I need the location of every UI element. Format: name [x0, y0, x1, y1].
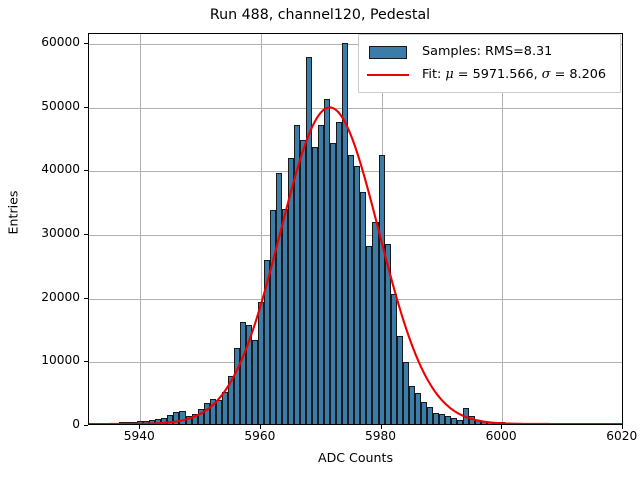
x-tick-label: 5980 [346, 429, 416, 443]
legend-fit-prefix: Fit: [422, 67, 445, 82]
mu-symbol: μ [445, 67, 453, 82]
x-axis-label: ADC Counts [88, 450, 623, 465]
x-tick-label: 6020 [587, 429, 640, 443]
figure-canvas: Run 488, channel120, Pedestal 5940596059… [0, 0, 640, 480]
legend-patch-icon [365, 43, 411, 61]
y-tick-mark [84, 425, 88, 426]
y-tick-label: 10000 [6, 353, 80, 367]
x-tick-label: 5960 [225, 429, 295, 443]
y-tick-label: 60000 [6, 35, 80, 49]
legend-item-samples: Samples: RMS=8.31 [365, 40, 614, 63]
legend-label-samples: Samples: RMS=8.31 [422, 44, 552, 59]
y-tick-mark [84, 298, 88, 299]
legend-item-fit: Fit: μ = 5971.566, σ = 8.206 [365, 63, 614, 86]
y-tick-label: 0 [6, 417, 80, 431]
sigma-symbol: σ [542, 67, 551, 82]
x-tick-label: 6000 [466, 429, 536, 443]
page-title: Run 488, channel120, Pedestal [0, 7, 640, 23]
legend-label-fit: Fit: μ = 5971.566, σ = 8.206 [422, 67, 606, 82]
legend-line-icon [365, 66, 411, 84]
y-axis-label: Entries [6, 123, 21, 303]
legend-fit-sigma-value: = 8.206 [551, 67, 607, 82]
x-tick-label: 5940 [104, 429, 174, 443]
y-tick-mark [84, 170, 88, 171]
y-tick-mark [84, 107, 88, 108]
y-tick-label: 50000 [6, 99, 80, 113]
y-tick-mark [84, 361, 88, 362]
legend: Samples: RMS=8.31 Fit: μ = 5971.566, σ =… [358, 34, 621, 93]
y-tick-mark [84, 43, 88, 44]
y-tick-mark [84, 234, 88, 235]
legend-fit-mu-value: = 5971.566, [454, 67, 542, 82]
